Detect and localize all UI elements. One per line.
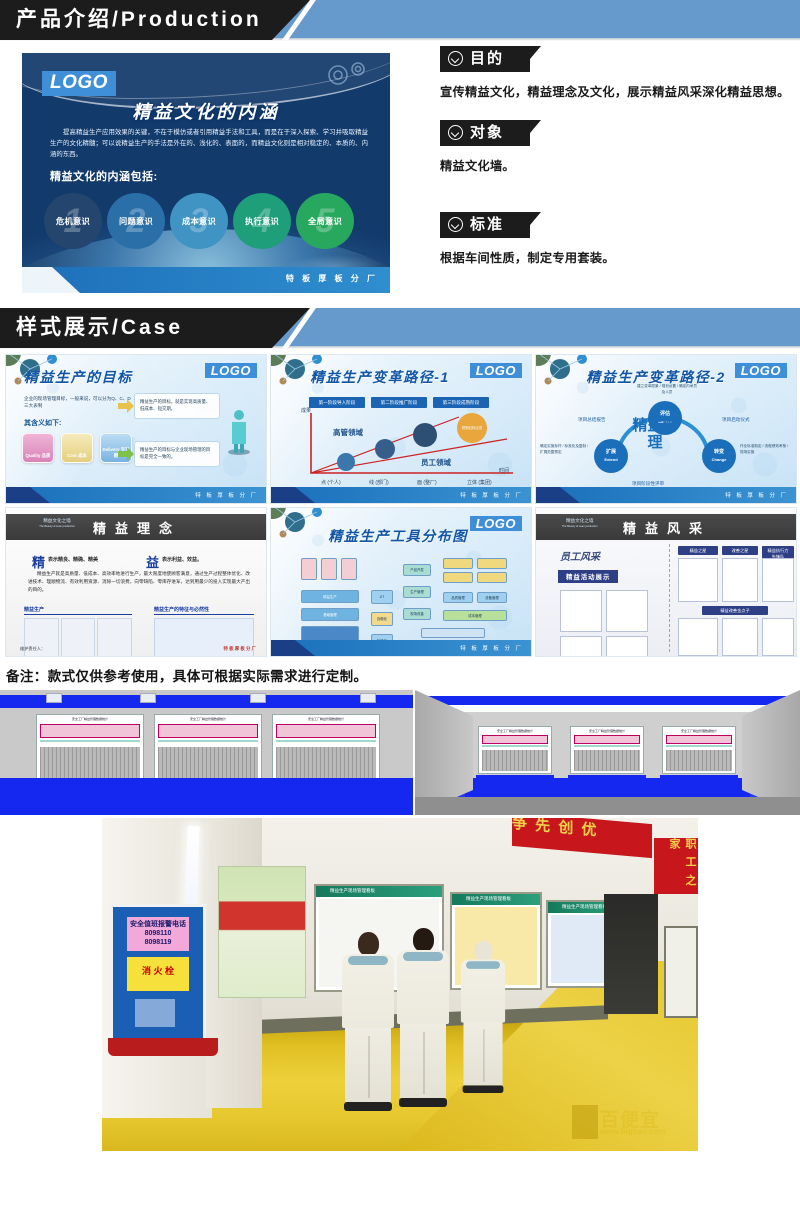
tool-node-quality: 品质管理 — [443, 592, 473, 603]
worker-figure — [397, 928, 449, 1107]
column-left-title: 精益生产 — [24, 606, 132, 615]
wall-board: 安全工厂精益管理数据统计 — [272, 714, 380, 786]
far-frame — [664, 926, 698, 1018]
cost-icon: Cost 成本 — [61, 433, 93, 463]
worker-head — [358, 932, 379, 956]
card-footer-bar: 特 板 厚 板 分 厂 — [536, 487, 796, 503]
tag-purpose: 目的 — [440, 46, 530, 72]
star-tag: 改善之星 — [722, 546, 758, 555]
section-title-production: 产品介绍/Production — [16, 0, 262, 40]
case-note: 备注：款式仅供参考使用，具体可根据实际需求进行定制。 — [0, 657, 800, 690]
wall-dado — [0, 778, 413, 815]
cabinet-glass — [135, 999, 175, 1027]
board-content: 安全工厂精益管理数据统计 — [479, 727, 551, 773]
wall-poster — [218, 866, 306, 998]
doorway — [604, 894, 658, 1014]
board-header: 精益生产现场管理看板 — [452, 894, 540, 905]
tool-node-equip: 设备管理 — [477, 592, 507, 603]
card-title: 精益生产变革路径-2 — [578, 367, 734, 387]
card-logo: LOGO — [735, 363, 787, 378]
board-content: 安全工厂精益管理数据统计 — [663, 727, 735, 773]
step-label: 立体 (集团) — [467, 479, 492, 486]
card-footer-text: 特 板 厚 板 分 厂 — [460, 644, 523, 652]
cycle-node-extend: 扩展 Extend — [594, 439, 628, 473]
cycle-note: 确定实施标杆 / 标准化及复制 / 扩展范围预定 — [540, 443, 592, 455]
cycle-center-label: 精益管理 — [628, 417, 682, 451]
photo-slot — [678, 618, 718, 656]
info-column: 目的 宣传精益文化，精益理念及文化，展示精益风采深化精益思想。 对象 精益文化墙… — [440, 40, 790, 276]
awareness-circle: 2 问题意识 — [107, 193, 165, 249]
circle-label: 危机意识 — [56, 215, 90, 227]
chevron-down-circle-icon — [448, 125, 463, 140]
cabinet-base — [108, 1038, 218, 1056]
card-paragraph: 精益生产就是高质量、低成本、高效率地进行生产，最大限度地使顾客满意，通过生产过程… — [28, 570, 250, 594]
board-header: 精益生产现场管理看板 — [316, 886, 442, 897]
card-title: 精益理念 — [6, 518, 267, 537]
awareness-circle: 1 危机意识 — [44, 193, 102, 249]
step-label: 点 (个人) — [321, 479, 341, 486]
board-title: 安全工厂精益管理数据统计 — [273, 717, 379, 721]
gallery-card-path2[interactable]: LOGO 精益生产变革路径-2 评估 Assess 转变 Change 扩展 E… — [535, 354, 797, 504]
node-cn: 转变 — [714, 449, 724, 456]
cycle-label: 项目总结报告 — [578, 417, 606, 423]
tool-box — [421, 628, 485, 638]
step-label: 线 (部门) — [369, 479, 389, 486]
chevron-down-circle-icon — [448, 217, 463, 232]
tag-purpose-label: 目的 — [470, 50, 504, 67]
wall-board: 安全工厂精益管理数据统计 — [570, 726, 644, 774]
worker-collar — [403, 952, 443, 961]
circle-label: 问题意识 — [119, 215, 153, 227]
info-block-target: 对象 精益文化墙。 — [440, 120, 790, 176]
worker-figure — [461, 941, 505, 1093]
board-content: 安全工厂精益管理数据统计 — [37, 715, 143, 785]
axis-y-label: 成果 — [301, 407, 311, 414]
info-block-standard: 标准 根据车间性质，制定专用套装。 — [440, 212, 790, 268]
stage-label: 第一阶段导入阶段 — [309, 397, 365, 408]
tool-node-lean: 精益生产 — [301, 590, 359, 603]
wall-board: 安全工厂精益管理数据统计 — [662, 726, 736, 774]
worker-collar — [466, 961, 500, 969]
card-title: 精益风采 — [536, 518, 797, 537]
worker-figure — [342, 932, 394, 1111]
icon-label: Cost 成本 — [62, 453, 92, 459]
circle-label: 执行意识 — [245, 215, 279, 227]
column-right-title: 精益生产的特征与必然性 — [154, 606, 254, 615]
card-title: 精益生产工具分布图 — [323, 526, 473, 546]
board-title: 安全工厂精益管理数据统计 — [663, 729, 735, 733]
card-footer-right: 特 板 厚 板 分 厂 — [224, 646, 256, 652]
case-body: LOGO 精益生产的目标 企业的现场管理目标，一般来说，可以分为Q、C、D 三大… — [0, 348, 800, 690]
ceiling-lamp — [250, 693, 266, 703]
section-title-case: 样式展示/Case — [16, 308, 183, 348]
info-text-purpose: 宣传精益文化，精益理念及文化，展示精益风采深化精益思想。 — [440, 82, 790, 102]
awareness-circle: 3 成本意识 — [170, 193, 228, 249]
panel-label: 精益活动展示 — [558, 570, 618, 583]
fire-hydrant-sign: 消 火 栓 — [127, 957, 189, 991]
board-base — [568, 775, 646, 778]
worker-body — [342, 954, 394, 1028]
tool-node-cost: 成本管理 — [443, 610, 507, 621]
section-header-production: 产品介绍/Production — [0, 0, 800, 40]
wall-board: 安全工厂精益管理数据统计 — [36, 714, 144, 786]
card-title: 精益生产变革路径-1 — [291, 367, 469, 387]
card-footer-left: 维护责任人： — [20, 646, 45, 652]
icon-label: Quality 品质 — [23, 453, 53, 459]
worker-shoes — [463, 1085, 504, 1093]
zone-top-label: 高管领域 — [333, 427, 363, 438]
board-base — [476, 775, 554, 778]
keyword-yi-desc: 表示利益、效益。 — [162, 556, 202, 563]
stage-label: 第三阶段成熟阶段 — [433, 397, 489, 408]
tool-node-basic: 基础管理 — [301, 608, 359, 621]
panel-divider — [669, 544, 670, 652]
poster-footer-bar: 特 板 厚 板 分 厂 — [22, 267, 390, 293]
poster-title: 精益文化的内涵 — [22, 98, 390, 124]
keyword-yi: 益 — [146, 552, 159, 571]
ceiling-trim — [415, 696, 800, 705]
path-node — [375, 439, 395, 459]
worker-body — [461, 960, 505, 1023]
card-bubble: 精益生产的目标与企业现场管理的目标是完全一致的。 — [134, 441, 220, 467]
tool-node-dev: 产品开发 — [403, 564, 431, 576]
gallery-grid: LOGO 精益生产的目标 企业的现场管理目标，一般来说，可以分为Q、C、D 三大… — [0, 354, 800, 657]
info-text-target: 精益文化墙。 — [440, 156, 790, 176]
idea-tag: 精益改善金点子 — [702, 606, 768, 615]
worker-legs — [463, 1022, 502, 1085]
star-tag: 精益之星 — [678, 546, 718, 555]
node-en: Change — [712, 456, 727, 463]
board-content: 安全工厂精益管理数据统计 — [273, 715, 379, 785]
worker-legs — [345, 1028, 391, 1102]
photo-section: 安全值班报警电话 8098110 8098119 消 火 栓 精益生产现场管理看… — [0, 815, 800, 1153]
worker-legs — [400, 1024, 446, 1098]
photo-slot — [762, 618, 794, 656]
axis-x-label: 时间 — [499, 467, 509, 474]
red-banner: 职 工 之 家 — [654, 838, 698, 894]
board-title: 安全工厂精益管理数据统计 — [37, 717, 143, 721]
watermark-url: www.bigbao.com — [600, 1127, 665, 1136]
photo-slot — [560, 590, 602, 632]
growth-chart — [301, 411, 519, 481]
awareness-circle: 4 执行意识 — [233, 193, 291, 249]
worker-body — [397, 950, 449, 1024]
ceiling-lamp — [46, 693, 62, 703]
worker-shoes — [344, 1102, 392, 1111]
tool-box — [301, 558, 317, 580]
tool-node-site: 现场改善 — [403, 608, 431, 620]
node-cn: 扩展 — [606, 449, 616, 456]
factory-corridor-photo: 安全值班报警电话 8098110 8098119 消 火 栓 精益生产现场管理看… — [102, 818, 698, 1151]
board-base — [660, 775, 738, 778]
card-sub2: 其含义如下: — [24, 418, 61, 428]
card-footer-text: 特 板 厚 板 分 厂 — [460, 491, 523, 499]
cycle-note: 作业标准制定 / 流程绩效考核 / 现场实施 — [740, 443, 792, 455]
node-en: Extend — [604, 456, 617, 463]
tool-box — [477, 558, 507, 569]
circle-label: 全局意识 — [308, 215, 342, 227]
photo-slot — [762, 558, 794, 602]
info-block-purpose: 目的 宣传精益文化，精益理念及文化，展示精益风采深化精益思想。 — [440, 46, 790, 102]
gallery-card-concept[interactable]: 精益文化之墙 The Beauty of Lean production 精益理… — [5, 507, 267, 657]
board-title: 安全工厂精益管理数据统计 — [479, 729, 551, 733]
poster-footer-text: 特 板 厚 板 分 厂 — [286, 273, 378, 284]
circle-label: 成本意识 — [182, 215, 216, 227]
card-header-bar: 精益文化之墙 The Beauty of Lean production 精益风… — [536, 514, 797, 540]
board-content: 安全工厂精益管理数据统计 — [155, 715, 261, 785]
tool-box — [443, 558, 473, 569]
perspective-room-render: 安全工厂精益管理数据统计 安全工厂精益管理数据统计 安全工厂精益管理数据统计 — [415, 690, 800, 815]
ceiling-lamp — [140, 693, 156, 703]
poster-paragraph: 提高精益生产应用效果的关键，不在于模仿或者引用精益手法和工具，而是在于深入探索、… — [50, 127, 368, 160]
poster-logo: LOGO — [42, 71, 116, 96]
ceiling-lamp — [360, 693, 376, 703]
path-node — [413, 423, 437, 447]
card-bubble: 精益生产的目标，就是实现高质量、低成本、短交期。 — [134, 393, 220, 419]
awareness-circle: 5 全局意识 — [296, 193, 354, 249]
board-title: 安全工厂精益管理数据统计 — [155, 717, 261, 721]
floor — [415, 797, 800, 815]
photo-slot — [606, 590, 648, 632]
qcd-icon-list: Quality 品质 Cost 成本 Delivery 交货期 — [22, 433, 132, 463]
card-logo: LOGO — [470, 363, 522, 378]
tag-target: 对象 — [440, 120, 530, 146]
tag-target-label: 对象 — [470, 124, 504, 141]
watermark-mark — [572, 1105, 598, 1139]
flat-wall-render: 安全工厂精益管理数据统计 安全工厂精益管理数据统计 安全工厂精益管理数据统计 — [0, 690, 413, 815]
arrow-right-icon — [118, 447, 134, 461]
board-content: 安全工厂精益管理数据统计 — [571, 727, 643, 773]
quality-icon: Quality 品质 — [22, 433, 54, 463]
zone-bottom-label: 员工领域 — [421, 457, 451, 468]
tool-node-jit: JIT — [371, 590, 393, 604]
tool-node-auto: 自働化 — [371, 612, 393, 626]
tool-box — [443, 572, 473, 583]
cycle-label: 项目启动仪式 — [722, 417, 750, 423]
photo-slot — [560, 636, 602, 657]
board-title: 安全工厂精益管理数据统计 — [571, 729, 643, 733]
goal-node: 短期目标达成 — [457, 413, 487, 443]
step-label: 面 (整厂) — [417, 479, 437, 486]
keyword-jing: 精 — [32, 552, 45, 571]
hero-title: 员工风采 — [560, 548, 646, 566]
card-header-bar: 精益文化之墙 The Beauty of Lean production 精益理… — [6, 514, 267, 540]
awareness-circle-list: 1 危机意识 2 问题意识 3 成本意识 4 执行意识 5 全局意识 — [44, 193, 374, 249]
tool-node-prod: 生产管理 — [403, 586, 431, 598]
phone-number-2: 8098119 — [145, 939, 172, 946]
keyword-jing-desc: 表示精良、精确、精美 — [48, 556, 98, 563]
phone-number-1: 8098110 — [145, 930, 172, 937]
card-footer-bar: 特 板 厚 板 分 厂 — [271, 640, 531, 656]
gallery-card-path1[interactable]: LOGO 精益生产变革路径-1 第一阶段导入阶段 第二阶段推广阶段 第三阶段成熟… — [270, 354, 532, 504]
photo-slot — [678, 558, 718, 602]
section-header-case: 样式展示/Case — [0, 308, 800, 348]
arrow-right-icon — [118, 399, 134, 413]
worker-head — [474, 941, 492, 961]
person-figure-icon — [228, 407, 250, 455]
gallery-card-goal[interactable]: LOGO 精益生产的目标 企业的现场管理目标，一般来说，可以分为Q、C、D 三大… — [5, 354, 267, 504]
card-footer-bar: 特 板 厚 板 分 厂 — [271, 487, 531, 503]
card-logo: LOGO — [470, 516, 522, 531]
worker-collar — [348, 956, 388, 965]
culture-poster: LOGO 精益文化的内涵 提高精益生产应用效果的关键，不在于模仿或者引用精益手法… — [22, 53, 390, 293]
gallery-card-tools[interactable]: LOGO 精益生产工具分布图 精益生产 基础管理 JIT 自働化 标准化 产品开… — [270, 507, 532, 657]
stage-label: 第二阶段推广阶段 — [371, 397, 427, 408]
phone-label: 安全值班报警电话 — [130, 921, 186, 928]
card-footer-bar: 特 板 厚 板 分 厂 — [6, 487, 266, 503]
photo-slot — [606, 636, 648, 657]
production-body: LOGO 精益文化的内涵 提高精益生产应用效果的关键，不在于模仿或者引用精益手法… — [0, 40, 800, 308]
poster-subtitle: 精益文化的内涵包括: — [50, 168, 158, 184]
path-node — [337, 453, 355, 471]
tool-box — [477, 572, 507, 583]
tool-box — [321, 558, 337, 580]
gear-icon — [318, 59, 378, 93]
gallery-card-style[interactable]: 精益文化之墙 The Beauty of Lean production 精益风… — [535, 507, 797, 657]
fire-hose-cabinet: 安全值班报警电话 8098110 8098119 消 火 栓 — [110, 904, 206, 1042]
card-footer-text: 特 板 厚 板 分 厂 — [195, 491, 258, 499]
cycle-node-change: 转变 Change — [702, 439, 736, 473]
tag-standard: 标准 — [440, 212, 530, 238]
worker-head — [413, 928, 434, 952]
photo-slot — [722, 618, 758, 656]
card-logo: LOGO — [205, 363, 257, 378]
chevron-down-circle-icon — [448, 51, 463, 66]
render-row: 安全工厂精益管理数据统计 安全工厂精益管理数据统计 安全工厂精益管理数据统计 — [0, 690, 800, 815]
worker-shoes — [399, 1098, 447, 1107]
wall-board: 安全工厂精益管理数据统计 — [154, 714, 262, 786]
tag-standard-label: 标准 — [470, 216, 504, 233]
watermark: 百便宜 www.bigbao.com — [572, 1101, 692, 1147]
card-footer-text: 特 板 厚 板 分 厂 — [725, 491, 788, 499]
photo-slot — [722, 558, 758, 602]
wall-board: 安全工厂精益管理数据统计 — [478, 726, 552, 774]
info-text-standard: 根据车间性质，制定专用套装。 — [440, 248, 790, 268]
tool-box — [341, 558, 357, 580]
poster-logo-text: LOGO — [50, 72, 108, 93]
emergency-phone-sign: 安全值班报警电话 8098110 8098119 — [127, 917, 189, 951]
